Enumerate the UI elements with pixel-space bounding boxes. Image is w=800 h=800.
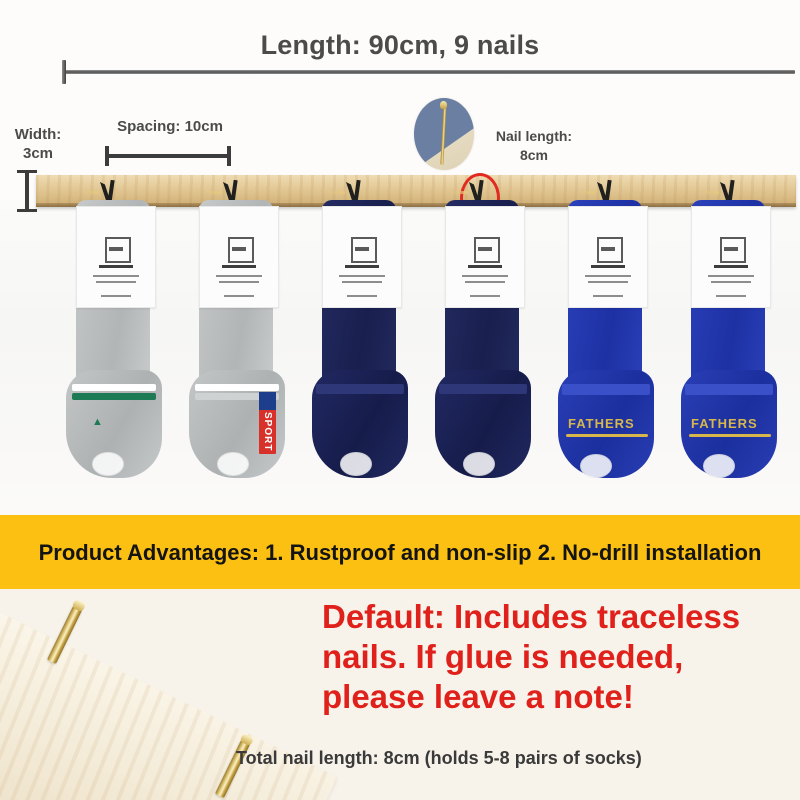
sock-1-logo: ▲ — [92, 416, 104, 428]
width-label-line1: Width: — [15, 126, 62, 143]
sock-tag-4 — [445, 206, 525, 308]
sock-tag-6 — [691, 206, 771, 308]
sock-brand-text-2: FATHERS — [691, 416, 758, 431]
sock-tag-3 — [322, 206, 402, 308]
product-infographic: Length: 90cm, 9 nails Width: 3cm Spacing… — [0, 0, 800, 800]
nail-length-label: Nail length: 8cm — [472, 127, 596, 165]
product-advantages-text: Product Advantages: 1. Rustproof and non… — [20, 538, 780, 567]
nail-label-line1: Nail length: — [496, 128, 572, 144]
product-advantages-banner: Product Advantages: 1. Rustproof and non… — [0, 515, 800, 589]
sock-tag-2 — [199, 206, 279, 308]
total-nail-length-note: Total nail length: 8cm (holds 5-8 pairs … — [236, 748, 796, 769]
nail-closeup-icon — [414, 98, 474, 170]
sock-sport-tab: SPORT — [259, 392, 276, 454]
sock-tag-5 — [568, 206, 648, 308]
hook-2 — [0, 178, 30, 212]
length-dimension-endcap — [62, 60, 66, 84]
top-photo-diagram: Length: 90cm, 9 nails Width: 3cm Spacing… — [0, 0, 800, 515]
default-includes-note: Default: Includes traceless nails. If gl… — [322, 597, 792, 717]
length-dimension-line — [62, 70, 795, 74]
spacing-label: Spacing: 10cm — [100, 118, 240, 135]
width-label-line2: 3cm — [23, 145, 53, 162]
sock-tag-1 — [76, 206, 156, 308]
sock-brand-text-1: FATHERS — [568, 416, 635, 431]
nail-label-line2: 8cm — [520, 147, 548, 163]
spacing-dimension-bracket — [105, 146, 231, 166]
page-title: Length: 90cm, 9 nails — [0, 30, 800, 61]
width-label: Width: 3cm — [2, 125, 74, 163]
